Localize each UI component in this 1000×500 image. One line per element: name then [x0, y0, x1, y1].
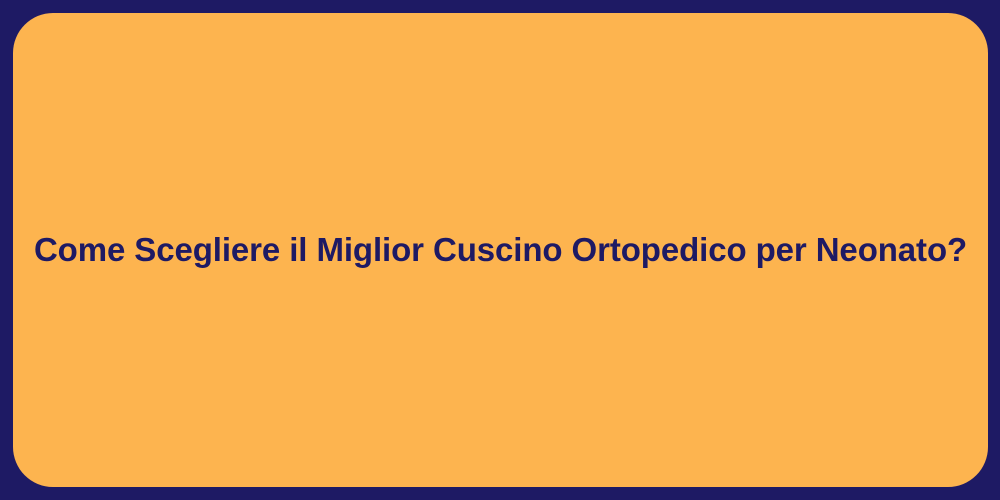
banner-frame: Come Scegliere il Miglior Cuscino Ortope… [0, 0, 1000, 500]
page-title: Come Scegliere il Miglior Cuscino Ortope… [34, 229, 967, 270]
banner-card: Come Scegliere il Miglior Cuscino Ortope… [13, 13, 988, 487]
